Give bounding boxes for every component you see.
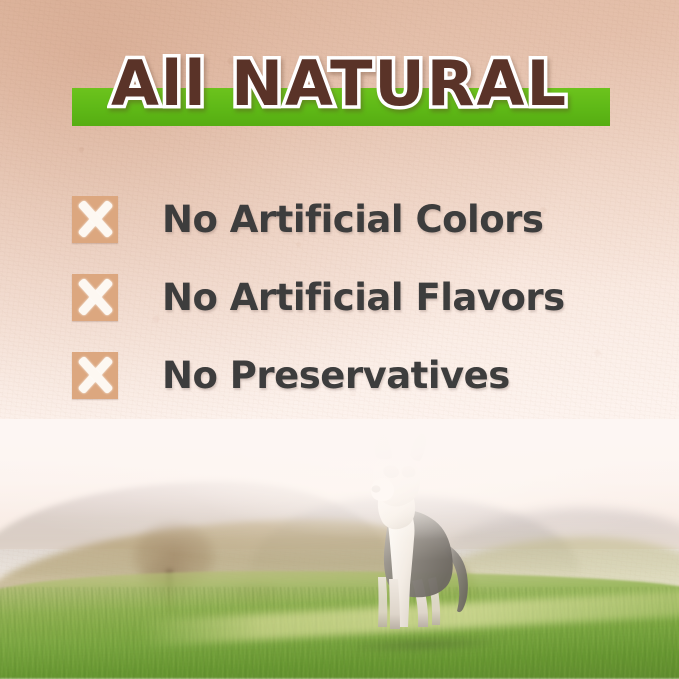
lifestyle-photo [0, 419, 679, 679]
x-mark-icon [72, 196, 118, 243]
list-item: No Artificial Colors [72, 180, 632, 258]
claim-label: No Preservatives [162, 357, 510, 394]
claim-label: No Artificial Flavors [162, 279, 565, 316]
dog-photo-subject [352, 427, 482, 647]
product-claims-infographic: All NATURAL No Artificial Colors No Arti… [0, 0, 679, 679]
x-mark-icon [72, 274, 118, 321]
list-item: No Artificial Flavors [72, 258, 632, 336]
page-title: All NATURAL [0, 49, 679, 119]
list-item: No Preservatives [72, 336, 632, 414]
x-mark-icon [72, 352, 118, 399]
claim-label: No Artificial Colors [162, 201, 543, 238]
